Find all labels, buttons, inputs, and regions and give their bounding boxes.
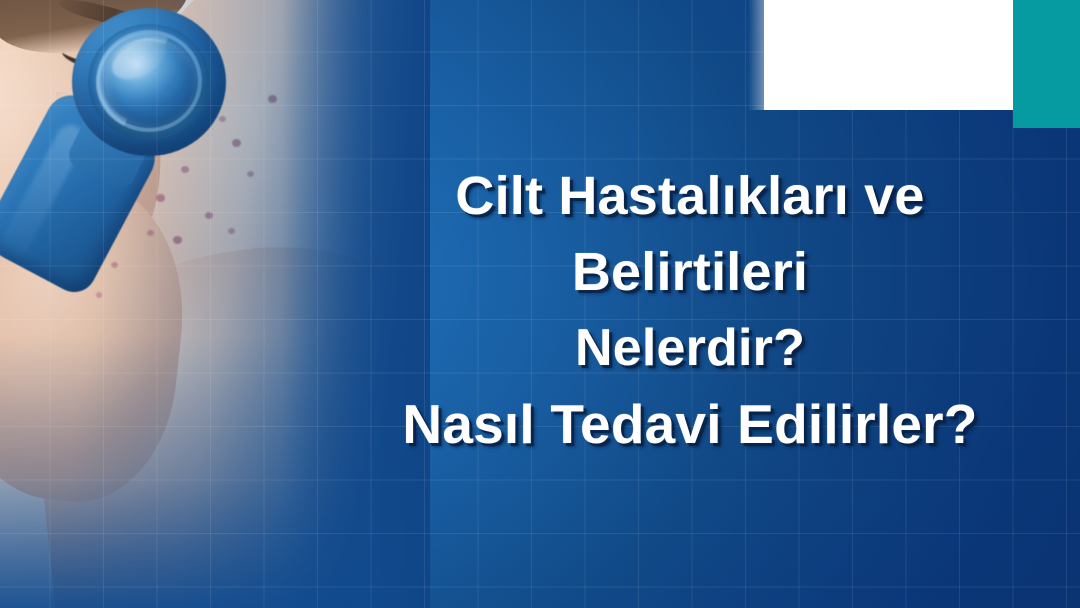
headline-line-3: Nelerdir? [330,310,1050,386]
headline-line-2: Belirtileri [330,234,1050,310]
logo-accent-block [1013,0,1080,128]
headline-line-4: Nasıl Tedavi Edilirler? [330,386,1050,462]
logo-panel: MEDICABIL Sağlık Grubu [764,0,1013,110]
headline-block: Cilt Hastalıkları ve Belirtileri Nelerdi… [330,158,1050,462]
headline-line-1: Cilt Hastalıkları ve [330,158,1050,234]
footer-bar: 444 8 112 [0,518,1080,608]
promo-banner: MEDICABIL Sağlık Grubu Cilt Hastalıkları… [0,0,1080,608]
